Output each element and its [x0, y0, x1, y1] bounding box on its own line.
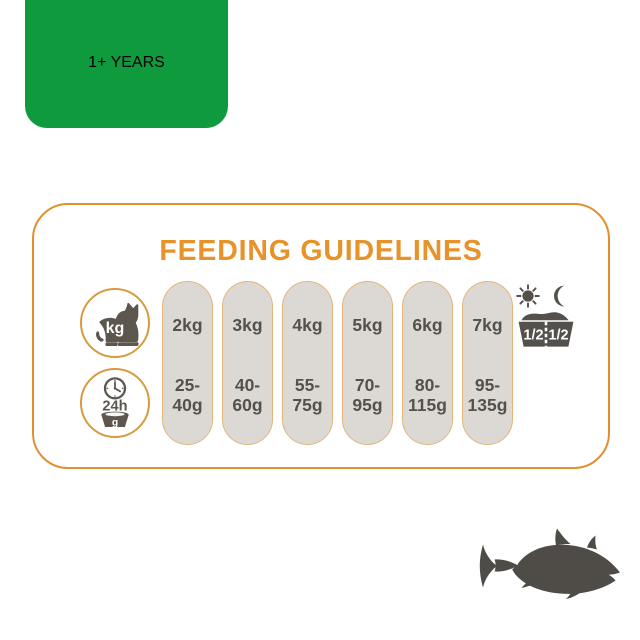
cat-weight-icon: kg — [80, 288, 150, 358]
column-amount: 80- 115g — [403, 375, 452, 416]
column-weight: 3kg — [223, 317, 272, 335]
column-amount: 40- 60g — [223, 375, 272, 416]
column-weight: 2kg — [163, 317, 212, 335]
feeding-guidelines-card: FEEDING GUIDELINES kg — [32, 203, 610, 469]
svg-text:kg: kg — [106, 319, 125, 337]
column-amount: 95- 135g — [463, 375, 512, 416]
feeding-column: 4kg 55- 75g — [282, 281, 333, 445]
clock-bowl-icon: 24h g — [80, 368, 150, 438]
feeding-column: 5kg 70- 95g — [342, 281, 393, 445]
age-badge-label: 1+ YEARS — [88, 54, 165, 72]
feeding-column: 6kg 80- 115g — [402, 281, 453, 445]
row-icon-column: kg 24h — [80, 288, 156, 438]
column-weight: 6kg — [403, 317, 452, 335]
column-amount: 25- 40g — [163, 375, 212, 416]
feeding-column: 3kg 40- 60g — [222, 281, 273, 445]
column-weight: 4kg — [283, 317, 332, 335]
feeding-columns: 2kg 25- 40g 3kg 40- 60g 4kg 55- 75g 5kg … — [162, 281, 513, 445]
column-amount: 55- 75g — [283, 375, 332, 416]
tuna-fish-icon — [470, 527, 625, 605]
page-title: FEEDING GUIDELINES — [34, 237, 608, 266]
age-badge: 1+ YEARS — [25, 0, 228, 128]
column-weight: 7kg — [463, 317, 512, 335]
sun-moon-half-bowl-icon: 1/2 1/2 — [506, 283, 586, 351]
evening-fraction-label: 1/2 — [548, 328, 568, 344]
column-weight: 5kg — [343, 317, 392, 335]
feeding-column: 2kg 25- 40g — [162, 281, 213, 445]
column-amount: 70- 95g — [343, 375, 392, 416]
morning-fraction-label: 1/2 — [523, 328, 543, 344]
svg-text:g: g — [112, 418, 118, 429]
